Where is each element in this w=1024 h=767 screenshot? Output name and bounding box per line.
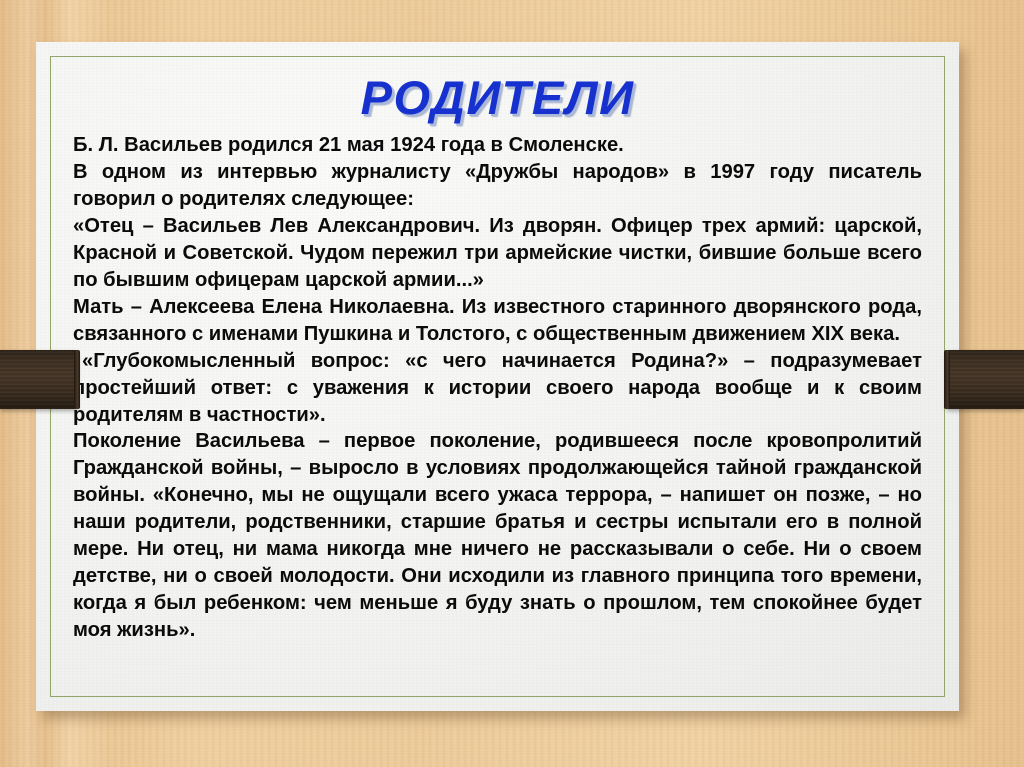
- paragraph-father: «Отец – Васильев Лев Александрович. Из д…: [73, 213, 922, 294]
- paragraph-mother: Мать – Алексеева Елена Николаевна. Из из…: [73, 294, 922, 348]
- content-card: РОДИТЕЛИ Б. Л. Васильев родился 21 мая 1…: [36, 42, 959, 711]
- card-inner-frame: РОДИТЕЛИ Б. Л. Васильев родился 21 мая 1…: [50, 56, 945, 697]
- page-title: РОДИТЕЛИ: [73, 73, 922, 123]
- paragraph-generation: Поколение Васильева – первое поколение, …: [73, 428, 922, 644]
- ribbon-cap-right: [944, 350, 950, 409]
- paragraph-question: «Глубокомысленный вопрос: «с чего начина…: [73, 348, 922, 429]
- paragraph-interview: В одном из интервью журналисту «Дружбы н…: [73, 159, 922, 213]
- ribbon-bar-right: [946, 350, 1024, 409]
- ribbon-cap-left: [74, 350, 80, 409]
- ribbon-bar-left: [0, 350, 78, 409]
- paragraph-intro: Б. Л. Васильев родился 21 мая 1924 года …: [73, 132, 922, 159]
- body-text: Б. Л. Васильев родился 21 мая 1924 года …: [73, 132, 922, 644]
